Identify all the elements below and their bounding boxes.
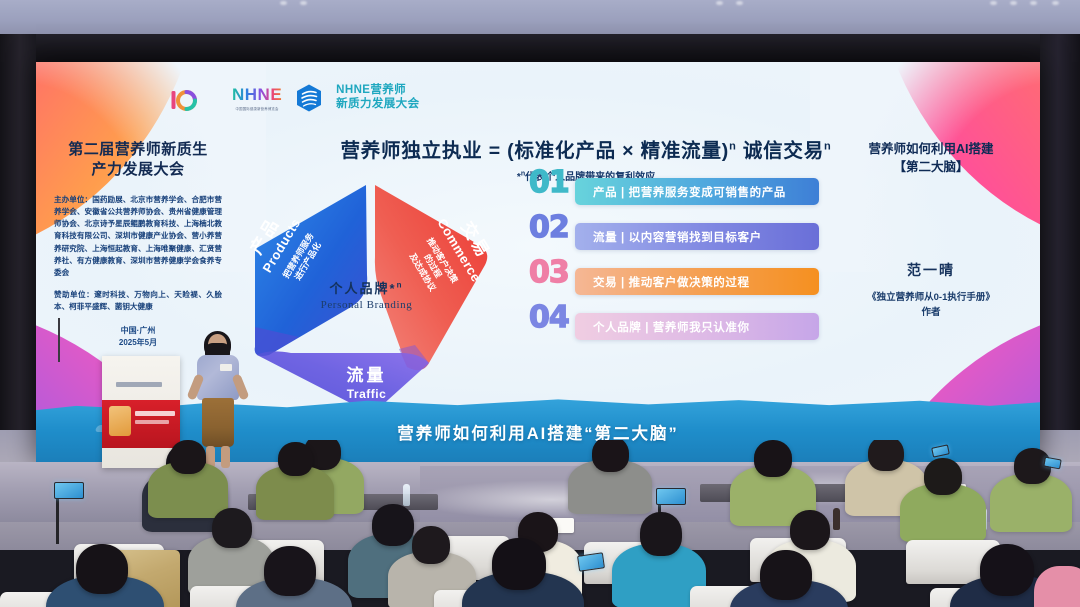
attendee-head-m6 xyxy=(412,526,450,564)
step-label-04: 个人品牌 | 营养师我只认准你 xyxy=(575,313,819,340)
credential-line1: 《独立营养师从0-1执行手册》 xyxy=(836,291,1026,305)
step-item-01: 01 产品 | 把营养服务变成可销售的产品 xyxy=(529,174,819,205)
attendee-head-m4 xyxy=(640,512,682,556)
nhne-logo: NHNE 中国国际健康新营养博览会 xyxy=(232,85,282,111)
step-number-03: 03 xyxy=(529,255,569,290)
conference-photo-scene: 第二届营养师新质生 产力发展大会 主办单位：国药励展、北京市营养学会、合肥市营养… xyxy=(0,0,1080,607)
session-title-line2: 【第二大脑】 xyxy=(836,158,1026,176)
conference-logo-line2: 新质力发展大会 xyxy=(336,98,419,112)
conference-logo-line1: NHNE营养师 xyxy=(336,84,419,98)
conference-title: 第二届营养师新质生 产力发展大会 xyxy=(54,140,222,181)
segment-commerce-shape xyxy=(375,185,487,370)
session-title-line1: 营养师如何利用AI搭建 xyxy=(836,140,1026,158)
phone-recording-b6[interactable] xyxy=(931,444,950,457)
attendee-head-m2 xyxy=(372,504,414,546)
attendee-head-b6 xyxy=(868,440,904,471)
microphone-stand xyxy=(58,318,60,362)
attendee-head-f4 xyxy=(760,550,812,600)
step-label-01: 产品 | 把营养服务变成可销售的产品 xyxy=(575,178,819,205)
phone-on-tripod-right[interactable] xyxy=(656,488,686,505)
attendee-head-b7 xyxy=(278,442,313,476)
session-title: 营养师如何利用AI搭建 【第二大脑】 xyxy=(836,140,1026,176)
nhne-logo-subtitle: 中国国际健康新营养博览会 xyxy=(236,106,279,111)
step-item-02: 02 流量 | 以内容营销找到目标客户 xyxy=(529,219,819,250)
attendee-head-b4 xyxy=(592,440,629,472)
phone-on-tripod-left[interactable] xyxy=(54,482,84,499)
organizers-label: 主办单位： xyxy=(54,195,92,204)
conference-logo-text: NHNE营养师 新质力发展大会 xyxy=(336,84,419,111)
podium-emblem xyxy=(109,406,131,436)
attendee-body-f6 xyxy=(1034,566,1080,607)
segment-products-shape xyxy=(255,185,367,356)
organizers-paragraph: 主办单位：国药励展、北京市营养学会、合肥市营养学会、安徽省公共营养师协会、贵州省… xyxy=(54,194,222,280)
presenter-badge xyxy=(220,364,232,371)
left-info-panel: 第二届营养师新质生 产力发展大会 主办单位：国药励展、北京市营养学会、合肥市营养… xyxy=(54,140,222,349)
hexagon-svg xyxy=(229,177,504,412)
organizers-text: 国药励展、北京市营养学会、合肥市营养学会、安徽省公共营养师协会、贵州省健康管理师… xyxy=(54,195,222,278)
attendee-head-f5 xyxy=(980,544,1034,596)
water-bottle-3 xyxy=(833,508,840,530)
anniversary-10-logo xyxy=(170,88,198,112)
step-label-03: 交易 | 推动客户做决策的过程 xyxy=(575,268,819,295)
conference-title-line1: 第二届营养师新质生 xyxy=(54,140,222,160)
formula-part1: 营养师独立执业 = (标准化产品 × 精准流量) xyxy=(340,140,729,162)
numbered-steps-list: 01 产品 | 把营养服务变成可销售的产品 02 流量 | 以内容营销找到目标客… xyxy=(529,174,819,354)
credential-line2: 作者 xyxy=(836,306,1026,320)
wall-left xyxy=(0,34,36,464)
attendee-head-b5 xyxy=(754,440,792,477)
podium-sponsor-line1 xyxy=(135,411,175,416)
led-presentation-screen: 第二届营养师新质生 产力发展大会 主办单位：国药励展、北京市营养学会、合肥市营养… xyxy=(36,62,1040,462)
nhne-wordmark: NHNE xyxy=(232,85,282,105)
attendee-head-b2 xyxy=(170,440,206,474)
three-pillar-hexagon-diagram: 产品 Products 把营养师服务 进行产品化 交易 Commerce 推动客… xyxy=(229,177,504,412)
formula-main: 营养师独立执业 = (标准化产品 × 精准流量)n 诚信交易n xyxy=(286,134,886,163)
step-number-04: 04 xyxy=(529,300,569,335)
speaker-credential: 《独立营养师从0-1执行手册》 作者 xyxy=(836,291,1026,320)
step-item-03: 03 交易 | 推动客户做决策的过程 xyxy=(529,264,819,295)
formula-sup2: n xyxy=(824,141,832,153)
conference-title-line2: 产力发展大会 xyxy=(54,160,222,180)
attendee-head-f3 xyxy=(492,538,546,590)
segment-traffic-shape xyxy=(257,351,429,411)
audience-area xyxy=(0,440,1080,607)
sponsors-label: 赞助单位： xyxy=(54,290,94,299)
formula-part2: 诚信交易 xyxy=(737,140,824,162)
wall-upper xyxy=(0,34,1080,64)
attendee-head-m5 xyxy=(790,510,830,550)
header-logo-row: NHNE 中国国际健康新营养博览会 NHNE营养师 新质力发展大会 xyxy=(232,84,419,112)
ceiling xyxy=(0,0,1080,34)
right-info-panel: 营养师如何利用AI搭建 【第二大脑】 范一晴 《独立营养师从0-1执行手册》 作… xyxy=(836,140,1026,320)
formula-sup1: n xyxy=(729,141,737,153)
step-number-01: 01 xyxy=(529,165,569,200)
ceiling-lights xyxy=(0,0,1080,8)
step-label-02: 流量 | 以内容营销找到目标客户 xyxy=(575,223,819,250)
step-item-04: 04 个人品牌 | 营养师我只认准你 xyxy=(529,309,819,340)
attendee-head-f2 xyxy=(264,546,316,596)
podium-date-text xyxy=(116,382,162,387)
water-bottle-1 xyxy=(403,484,410,506)
sponsors-paragraph: 赞助单位：邃时科技、万物向上、天睑褆、久脍本、柯菲平盛辉、菌钥大健康 xyxy=(54,289,222,314)
hexagon-brand-icon xyxy=(296,84,322,112)
attendee-head-b8 xyxy=(924,458,962,495)
organizer-block: 主办单位：国药励展、北京市营养学会、合肥市营养学会、安徽省公共营养师协会、贵州省… xyxy=(54,194,222,314)
podium-sponsor-line2 xyxy=(135,420,169,424)
wall-right xyxy=(1040,34,1080,464)
step-number-02: 02 xyxy=(529,210,569,245)
speaker-name: 范一晴 xyxy=(836,260,1026,280)
attendee-head-m1 xyxy=(212,508,252,548)
attendee-head-f1 xyxy=(76,544,128,594)
